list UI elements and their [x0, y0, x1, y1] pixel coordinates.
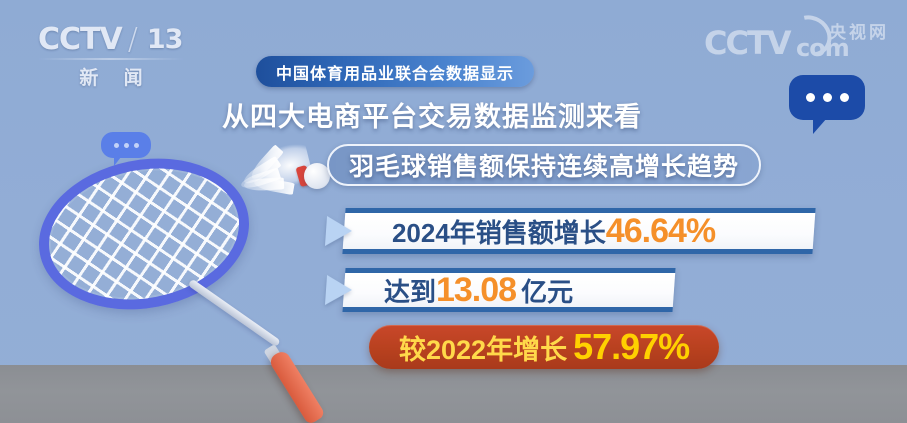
- cctv13-logo-row: CCTV / 13: [38, 22, 188, 57]
- headline-label: 羽毛球销售额保持连续高增长趋势: [349, 147, 739, 183]
- bubble-dots-large: [789, 75, 865, 120]
- bubble-tail: [813, 118, 827, 134]
- watermark-cctv-text: CCTV: [704, 24, 790, 62]
- stat-2-value: 13.08: [436, 271, 516, 310]
- logo-divider: [38, 58, 184, 60]
- dot-icon: [124, 143, 129, 148]
- chat-bubble-icon-large: [789, 75, 865, 120]
- stat-1-value: 46.64%: [606, 212, 715, 251]
- subheadline-text: 从四大电商平台交易数据监测来看: [222, 95, 642, 134]
- stat-3-value: 57.97%: [573, 326, 689, 368]
- racket-shaft: [188, 279, 281, 347]
- data-source-pill: 中国体育用品业联合会数据显示: [256, 56, 534, 87]
- bubble-tail: [114, 157, 121, 166]
- headline-box: 羽毛球销售额保持连续高增长趋势: [327, 144, 761, 186]
- stat-bar-2: 达到 13.08 亿元: [324, 268, 675, 312]
- stat-bar-2-text: 达到 13.08 亿元: [384, 271, 573, 310]
- shuttlecock-illustration: [240, 140, 336, 202]
- stat-3-label: 较2022年增长: [399, 328, 567, 367]
- chat-bubble-icon-small: [101, 132, 151, 158]
- stat-bar-2-body: 达到 13.08 亿元: [342, 268, 675, 312]
- stat-bar-3: 较2022年增长 57.97%: [369, 325, 719, 369]
- cctvcom-watermark: CCTV com 央视网: [704, 10, 889, 58]
- infographic-screen: CCTV / 13 新 闻 CCTV com 央视网: [0, 0, 907, 423]
- channel-number: 13: [143, 22, 187, 57]
- racket-head: [26, 141, 262, 327]
- arrow-right-icon: [325, 216, 353, 246]
- racket-strings: [26, 141, 262, 327]
- watermark-cn-text: 央视网: [829, 18, 889, 43]
- dot-icon: [806, 93, 815, 102]
- stat-bar-1-body: 2024年销售额增长 46.64%: [342, 208, 815, 254]
- data-source-label: 中国体育用品业联合会数据显示: [276, 60, 514, 84]
- stat-bar-1: 2024年销售额增长 46.64%: [324, 208, 815, 254]
- stat-1-label: 2024年销售额增长: [392, 213, 606, 250]
- dot-icon: [840, 93, 849, 102]
- channel-name: 新 闻: [38, 63, 184, 90]
- cctv13-channel-logo: CCTV / 13 新 闻: [38, 22, 188, 80]
- stat-2-label: 达到: [384, 272, 436, 309]
- dot-icon: [114, 143, 119, 148]
- cctv-wordmark: CCTV: [38, 22, 122, 57]
- feather: [253, 176, 294, 195]
- arrow-right-icon: [325, 275, 353, 305]
- stat-bar-1-text: 2024年销售额增长 46.64%: [392, 212, 715, 251]
- stat-2-suffix: 亿元: [521, 272, 573, 309]
- logo-slash: /: [128, 22, 137, 57]
- bubble-dots-small: [101, 132, 151, 158]
- dot-icon: [134, 143, 139, 148]
- dot-icon: [823, 93, 832, 102]
